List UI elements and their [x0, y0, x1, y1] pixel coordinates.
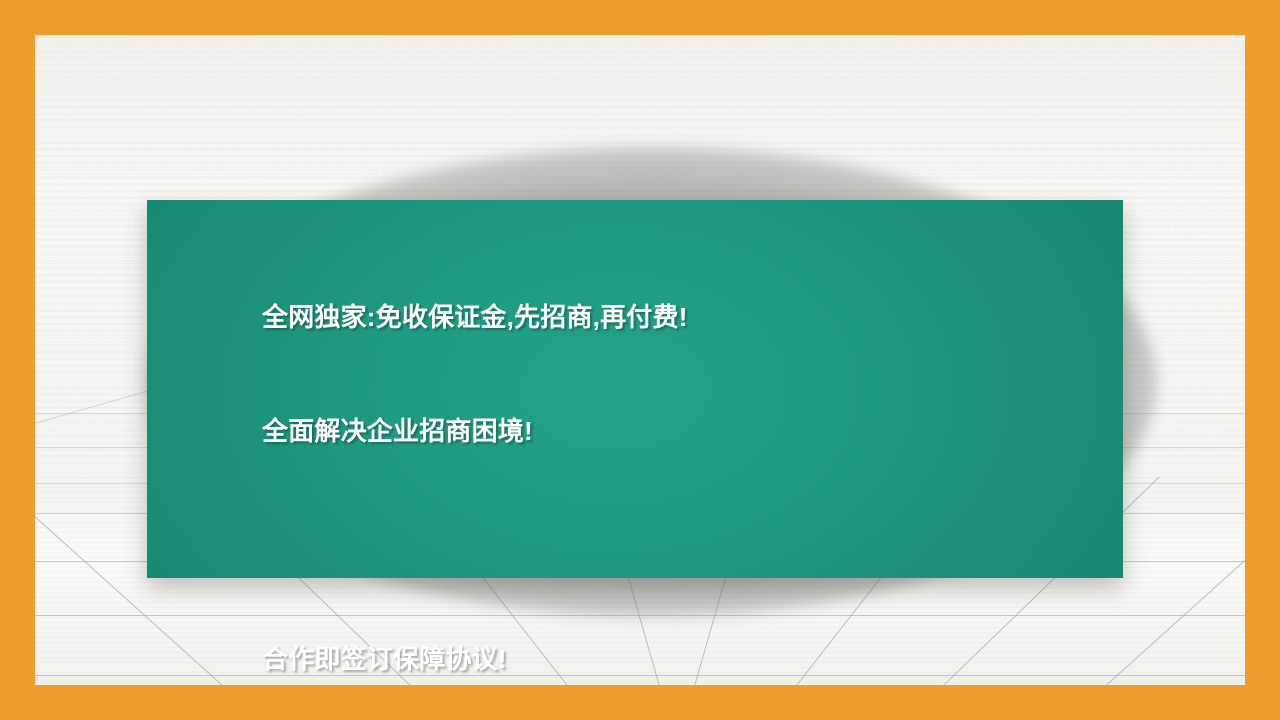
message-text-block: 全网独家:免收保证金,先招商,再付费! 全面解决企业招商困境! 合作即签订保障协…	[262, 222, 932, 685]
slide-root: 全网独家:免收保证金,先招商,再付费! 全面解决企业招商困境! 合作即签订保障协…	[0, 0, 1280, 720]
message-panel: 全网独家:免收保证金,先招商,再付费! 全面解决企业招商困境! 合作即签订保障协…	[147, 200, 1123, 578]
message-line-1: 全网独家:免收保证金,先招商,再付费!	[262, 298, 932, 336]
message-line-2: 全面解决企业招商困境!	[262, 412, 932, 450]
message-spacer-1	[262, 526, 932, 564]
message-line-3: 合作即签订保障协议!	[262, 640, 932, 678]
room-scene: 全网独家:免收保证金,先招商,再付费! 全面解决企业招商困境! 合作即签订保障协…	[35, 35, 1245, 685]
